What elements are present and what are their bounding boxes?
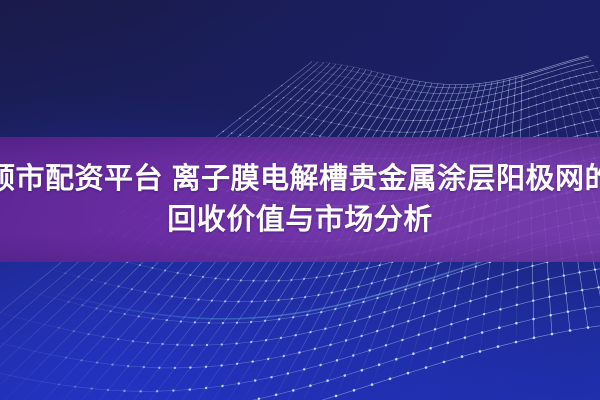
banner-graphic: 顺市配资平台 离子膜电解槽贵金属涂层阳极网的 回收价值与市场分析 <box>0 0 600 400</box>
title-line-1: 顺市配资平台 离子膜电解槽贵金属涂层阳极网的 <box>0 160 600 199</box>
banner-title: 顺市配资平台 离子膜电解槽贵金属涂层阳极网的 回收价值与市场分析 <box>0 137 600 262</box>
title-line-2: 回收价值与市场分析 <box>167 201 433 240</box>
